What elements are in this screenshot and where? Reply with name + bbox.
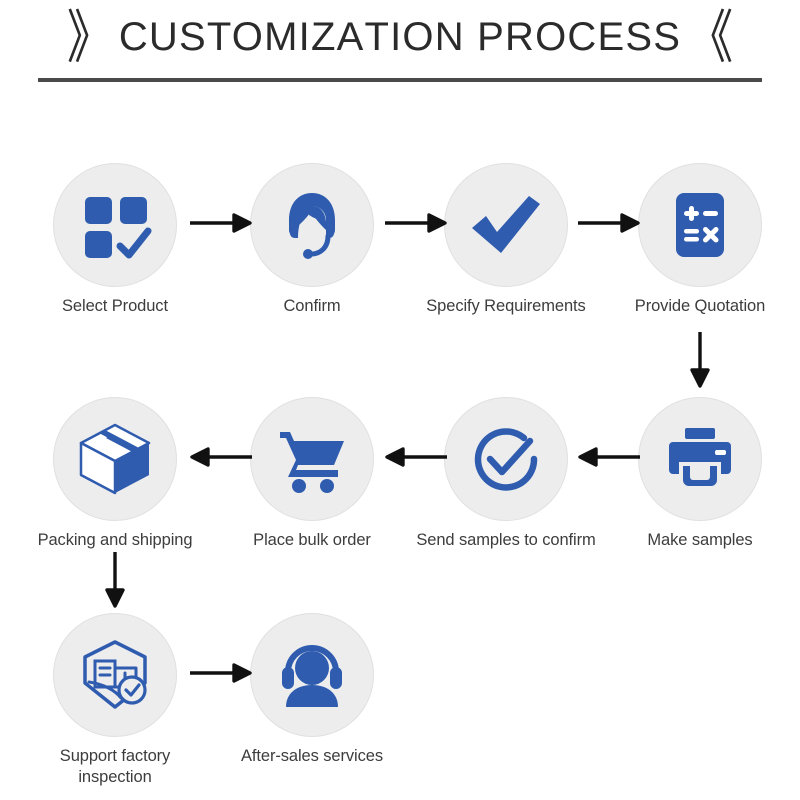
process-step-6-label: Send samples to confirm (416, 530, 596, 551)
process-step-7-label: Place bulk order (222, 530, 402, 551)
process-step-10[interactable]: After-sales services (222, 613, 402, 767)
process-step-8-label: Packing and shipping (25, 530, 205, 551)
process-step-6[interactable]: Send samples to confirm (416, 397, 596, 551)
process-step-1-label: Select Product (25, 296, 205, 317)
connector-arrow-2-to-3 (385, 212, 447, 234)
connector-arrow-6-to-7 (385, 446, 447, 468)
process-flow: Select Product Confirm Specify Requireme… (0, 0, 800, 800)
shopping-cart-icon (272, 419, 352, 499)
four-squares-check-icon (77, 187, 153, 263)
process-step-3[interactable]: Specify Requirements (416, 163, 596, 317)
process-step-3-icon-circle (444, 163, 568, 287)
process-step-2-label: Confirm (222, 296, 402, 317)
process-step-5-icon-circle (638, 397, 762, 521)
process-step-5[interactable]: Make samples (610, 397, 790, 551)
process-step-4[interactable]: Provide Quotation (610, 163, 790, 317)
connector-arrow-4-to-5 (688, 332, 712, 388)
process-step-5-label: Make samples (610, 530, 790, 551)
process-step-1[interactable]: Select Product (25, 163, 205, 317)
checkmark-icon (466, 185, 546, 265)
process-step-6-icon-circle (444, 397, 568, 521)
process-step-2[interactable]: Confirm (222, 163, 402, 317)
connector-arrow-8-to-9 (103, 552, 127, 608)
connector-arrow-1-to-2 (190, 212, 252, 234)
factory-inspection-shield-icon (75, 635, 155, 715)
connector-arrow-3-to-4 (578, 212, 640, 234)
process-step-10-icon-circle (250, 613, 374, 737)
process-step-8[interactable]: Packing and shipping (25, 397, 205, 551)
process-step-7[interactable]: Place bulk order (222, 397, 402, 551)
connector-arrow-9-to-10 (190, 662, 252, 684)
process-step-2-icon-circle (250, 163, 374, 287)
calculator-icon (662, 187, 738, 263)
process-step-7-icon-circle (250, 397, 374, 521)
process-step-4-label: Provide Quotation (610, 296, 790, 317)
connector-arrow-7-to-8 (190, 446, 252, 468)
printer-icon (661, 420, 739, 498)
process-step-8-icon-circle (53, 397, 177, 521)
package-box-icon (75, 419, 155, 499)
headset-agent-icon (273, 186, 351, 264)
support-person-headphones-icon (272, 635, 352, 715)
process-step-9-icon-circle (53, 613, 177, 737)
process-step-9-label: Support factory inspection (25, 746, 205, 788)
process-step-10-label: After-sales services (222, 746, 402, 767)
connector-arrow-5-to-6 (578, 446, 640, 468)
process-step-9[interactable]: Support factory inspection (25, 613, 205, 788)
check-circle-icon (466, 419, 546, 499)
process-step-1-icon-circle (53, 163, 177, 287)
process-step-3-label: Specify Requirements (416, 296, 596, 317)
process-step-4-icon-circle (638, 163, 762, 287)
